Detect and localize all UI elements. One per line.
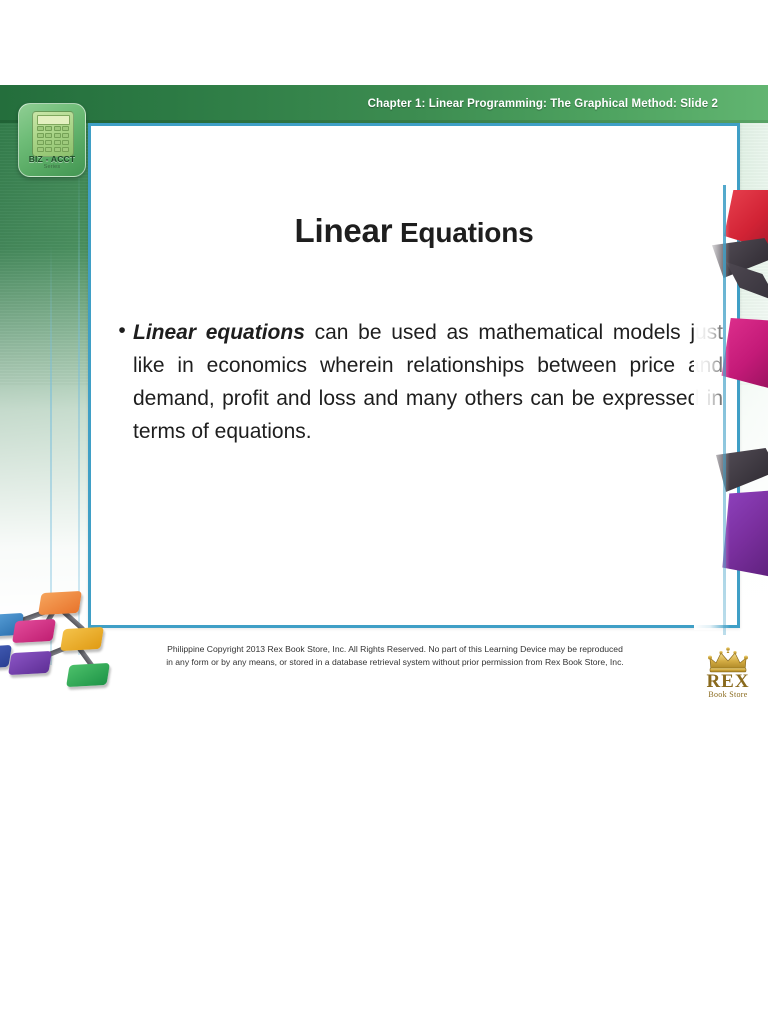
slide-header-bar: Chapter 1: Linear Programming: The Graph… bbox=[0, 85, 768, 123]
right-accent-line bbox=[723, 185, 726, 635]
badge-title: BIZ - ACCT bbox=[19, 154, 85, 164]
left-accent-line-inner bbox=[78, 155, 80, 655]
bullet-body-text: Linear equations can be used as mathemat… bbox=[133, 316, 723, 448]
copyright-line-1: Philippine Copyright 2013 Rex Book Store… bbox=[100, 643, 690, 656]
bullet-lead-phrase: Linear equations bbox=[133, 321, 305, 344]
network-node-pink bbox=[12, 619, 56, 643]
rex-book-store-logo: REX Book Store bbox=[697, 647, 759, 705]
rex-logo-name: REX bbox=[697, 673, 759, 690]
slide-title-remainder: Equations bbox=[392, 217, 533, 248]
copyright-line-2: in any form or by any means, or stored i… bbox=[100, 656, 690, 669]
copyright-notice: Philippine Copyright 2013 Rex Book Store… bbox=[100, 643, 690, 669]
slide-footer: Philippine Copyright 2013 Rex Book Store… bbox=[0, 643, 768, 710]
slide-content-panel: Linear Equations • Linear equations can … bbox=[88, 123, 740, 628]
bullet-marker-icon: • bbox=[111, 316, 133, 346]
network-node-orange bbox=[38, 591, 82, 615]
biz-acct-badge: BIZ - ACCT Series bbox=[18, 103, 86, 177]
slide-title-emphasis: Linear bbox=[295, 212, 393, 249]
calculator-keys bbox=[37, 126, 69, 152]
calculator-screen bbox=[37, 115, 70, 125]
slide-title: Linear Equations bbox=[91, 212, 737, 250]
calculator-icon bbox=[32, 111, 74, 157]
bullet-list-item: • Linear equations can be used as mathem… bbox=[111, 316, 723, 448]
crown-icon bbox=[705, 647, 751, 673]
badge-subtitle: Series bbox=[19, 164, 85, 170]
slide-header-title: Chapter 1: Linear Programming: The Graph… bbox=[368, 98, 718, 110]
presentation-slide: Chapter 1: Linear Programming: The Graph… bbox=[0, 85, 768, 710]
